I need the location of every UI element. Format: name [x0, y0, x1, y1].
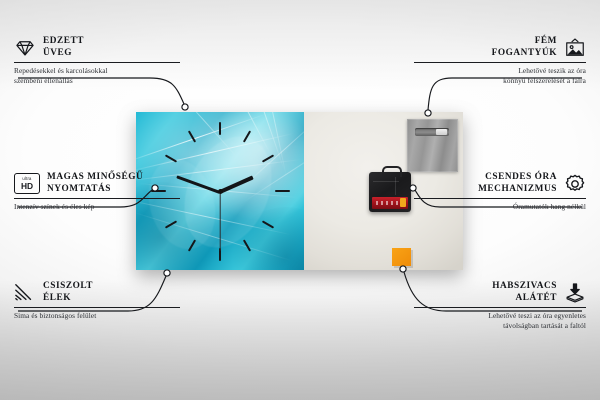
feature-header: CSISZOLTÉLEK — [14, 281, 180, 304]
feature-divider — [414, 198, 586, 199]
feature-silent-mechanism: CSENDES ÓRAMECHANIZMUS Óramutatók hang n… — [414, 172, 586, 212]
feature-hd-printing: ultra HD MAGAS MINŐSÉGŰNYOMTATÁS Intenzí… — [14, 172, 180, 212]
foam-pad-part — [392, 248, 411, 266]
feature-title: EDZETTÜVEG — [43, 36, 84, 59]
feature-description: Lehetővé teszi az óra egyenletestávolság… — [414, 311, 586, 331]
foam-pad-icon — [564, 282, 586, 304]
feature-foam-pad: HABSZIVACSALÁTÉT Lehetővé teszi az óra e… — [414, 281, 586, 331]
mechanism-hanging-loop — [382, 166, 402, 177]
feature-description: Óramutatók hang nélkül — [414, 202, 586, 212]
hanger-slot — [415, 128, 449, 136]
feature-header: EDZETTÜVEG — [14, 36, 180, 59]
feature-description: Lehetővé teszik az órakönnyű felszerelés… — [414, 66, 586, 86]
clock-tick — [275, 190, 290, 192]
feature-header: CSENDES ÓRAMECHANIZMUS — [414, 172, 586, 195]
clock-mechanism-part — [369, 172, 411, 212]
connector-endpoint — [164, 270, 170, 276]
infographic-canvas: EDZETTÜVEG Repedésekkel és karcolásokkal… — [0, 0, 600, 400]
feature-title: FÉMFOGANTYÚK — [492, 36, 557, 59]
feature-title: CSENDES ÓRAMECHANIZMUS — [478, 172, 557, 195]
clock-tick — [219, 122, 221, 135]
feature-description: Sima és biztonságos felület — [14, 311, 180, 321]
connector-endpoint — [182, 104, 188, 110]
feature-header: HABSZIVACSALÁTÉT — [414, 281, 586, 304]
gear-icon — [564, 173, 586, 195]
feature-divider — [414, 62, 586, 63]
feature-title: HABSZIVACSALÁTÉT — [492, 281, 557, 304]
mechanism-seam — [395, 177, 396, 195]
feature-description: Intenzív színek és éles kép — [14, 202, 180, 212]
feature-title: CSISZOLTÉLEK — [43, 281, 93, 304]
feature-description: Repedésekkel és karcolásokkalszembeni el… — [14, 66, 180, 86]
battery-part — [372, 197, 408, 209]
feature-header: ultra HD MAGAS MINŐSÉGŰNYOMTATÁS — [14, 172, 180, 195]
clock-second-hand — [219, 192, 220, 250]
feature-divider — [14, 307, 180, 308]
picture-hanger-icon — [564, 37, 586, 59]
feature-metal-handles: FÉMFOGANTYÚK Lehetővé teszik az órakönny… — [414, 36, 586, 86]
ultra-hd-large-text: HD — [21, 182, 33, 190]
clock-hands-hub — [218, 189, 223, 194]
polished-edge-icon — [14, 282, 36, 304]
feature-tempered-glass: EDZETTÜVEG Repedésekkel és karcolásokkal… — [14, 36, 180, 86]
feature-divider — [14, 62, 180, 63]
metal-hanger-part — [407, 119, 458, 172]
ultra-hd-icon: ultra HD — [14, 173, 40, 194]
feature-title: MAGAS MINŐSÉGŰNYOMTATÁS — [47, 172, 143, 195]
feature-divider — [414, 307, 586, 308]
feature-divider — [14, 198, 180, 199]
feature-polished-edges: CSISZOLTÉLEK Sima és biztonságos felület — [14, 281, 180, 321]
feature-header: FÉMFOGANTYÚK — [414, 36, 586, 59]
diamond-icon — [14, 37, 36, 59]
